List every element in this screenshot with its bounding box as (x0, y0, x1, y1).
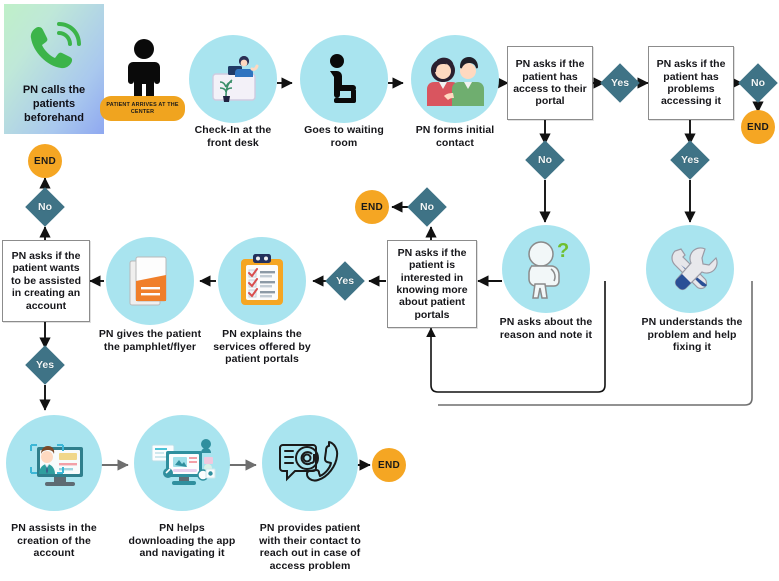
decision-interested-box[interactable]: PN asks if the patient is interested in … (387, 240, 477, 328)
end-contact-label: END (378, 460, 400, 471)
step-contact-circle[interactable] (411, 35, 499, 123)
step-contactinfo-caption: PN provides patient with their contact t… (248, 522, 372, 572)
step-pamphlet-circle[interactable] (106, 237, 194, 325)
decision-assisted-text: PN asks if the patient wants to be assis… (7, 250, 85, 312)
app-navigation-icon (146, 435, 218, 491)
start-label: PN calls the patients beforehand (4, 83, 104, 125)
branch-problems-no[interactable]: No (738, 63, 778, 103)
step-download-caption: PN helps downloading the app and navigat… (126, 522, 238, 560)
end-contact-terminator[interactable]: END (372, 448, 406, 482)
branch-problems-yes[interactable]: Yes (670, 140, 710, 180)
step-waiting-circle[interactable] (300, 35, 388, 123)
step-contact-caption: PN forms initial contact (407, 124, 503, 149)
step-explains-caption: PN explains the services offered by pati… (210, 328, 314, 366)
branch-access-no[interactable]: No (525, 140, 565, 180)
branch-problems-no-label: No (751, 77, 765, 89)
branch-access-yes-label: Yes (611, 77, 629, 89)
branch-interested-no-label: No (420, 201, 434, 213)
branch-assisted-yes[interactable]: Yes (25, 345, 65, 385)
decision-problems-text: PN asks if the patient has problems acce… (653, 58, 729, 108)
step-pamphlet-caption: PN gives the patient the pamphlet/flyer (98, 328, 202, 353)
decision-access-box[interactable]: PN asks if the patient has access to the… (507, 46, 593, 120)
step-reason-caption: PN asks about the reason and note it (494, 316, 598, 341)
front-desk-icon (204, 52, 262, 106)
end-interested-label: END (361, 202, 383, 213)
step-waiting-caption: Goes to waiting room (296, 124, 392, 149)
step-fixing-circle[interactable] (646, 225, 734, 313)
arrival-pill-label: PATIENT ARRIVES AT THE CENTER (104, 102, 181, 115)
end-problems-label: END (747, 122, 769, 133)
step-checkin-circle[interactable] (189, 35, 277, 123)
arrival-pill: PATIENT ARRIVES AT THE CENTER (100, 96, 185, 121)
step-explains-circle[interactable] (218, 237, 306, 325)
decision-interested-text: PN asks if the patient is interested in … (392, 247, 472, 321)
step-contactinfo-circle[interactable] (262, 415, 358, 511)
end-interested-terminator[interactable]: END (355, 190, 389, 224)
branch-access-yes[interactable]: Yes (600, 63, 640, 103)
decision-assisted-box[interactable]: PN asks if the patient wants to be assis… (2, 240, 90, 322)
flowchart-canvas: PN calls the patients beforehand PATIENT… (0, 0, 779, 581)
branch-assisted-yes-label: Yes (36, 359, 54, 371)
step-fixing-caption: PN understands the problem and help fixi… (640, 316, 744, 354)
email-phone-contact-icon (277, 435, 343, 491)
seated-person-icon (321, 53, 367, 105)
svg-text:?: ? (557, 240, 569, 262)
branch-assisted-no-label: No (38, 201, 52, 213)
step-checkin-caption: Check-In at the front desk (185, 124, 281, 149)
step-assists-circle[interactable] (6, 415, 102, 511)
pamphlet-flyer-icon (124, 253, 176, 309)
branch-problems-yes-label: Yes (681, 154, 699, 166)
wrench-screwdriver-icon (661, 241, 719, 297)
end-problems-terminator[interactable]: END (741, 110, 775, 144)
step-download-circle[interactable] (134, 415, 230, 511)
clipboard-checklist-icon (237, 253, 287, 309)
step-reason-circle[interactable]: ? (502, 225, 590, 313)
branch-interested-no[interactable]: No (407, 187, 447, 227)
end-assisted-label: END (34, 156, 56, 167)
branch-assisted-no[interactable]: No (25, 187, 65, 227)
decision-access-text: PN asks if the patient has access to the… (512, 58, 588, 108)
start-card: PN calls the patients beforehand (4, 4, 104, 134)
thinking-person-icon: ? (519, 239, 573, 299)
end-assisted-terminator[interactable]: END (28, 144, 62, 178)
decision-problems-box[interactable]: PN asks if the patient has problems acce… (648, 46, 734, 120)
branch-interested-yes[interactable]: Yes (325, 261, 365, 301)
step-assists-caption: PN assists in the creation of the accoun… (2, 522, 106, 560)
person-silhouette-icon (120, 38, 168, 100)
account-creation-icon (21, 435, 87, 491)
branch-interested-yes-label: Yes (336, 275, 354, 287)
branch-access-no-label: No (538, 154, 552, 166)
two-people-talking-icon (423, 52, 487, 106)
phone-call-icon (24, 18, 84, 79)
